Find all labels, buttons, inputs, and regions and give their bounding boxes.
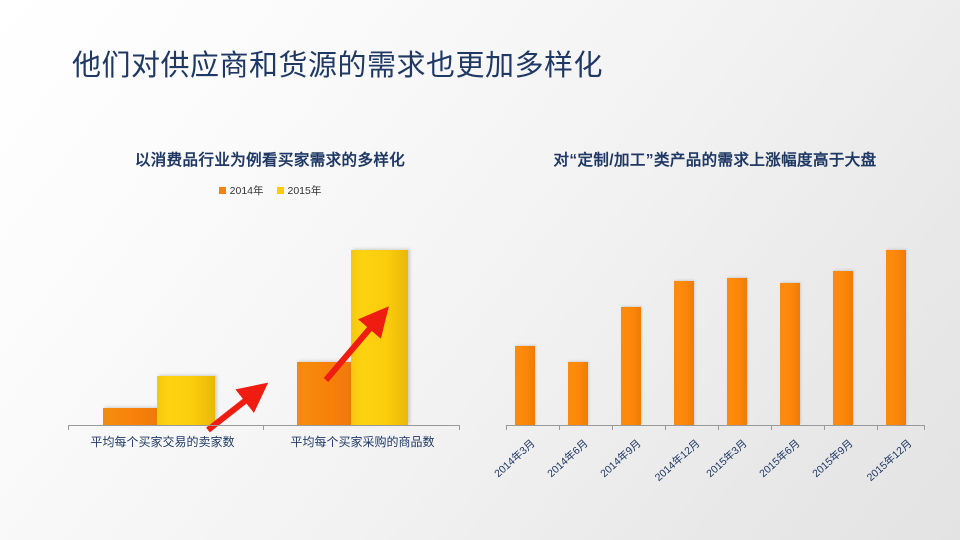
page-title: 他们对供应商和货源的需求也更加多样化: [72, 42, 892, 84]
left-chart-title: 以消费品行业为例看买家需求的多样化: [60, 150, 480, 172]
legend-label-2014: 2014年: [230, 183, 264, 198]
axis-tick: [459, 425, 460, 430]
rbar-2014-12: [674, 281, 694, 425]
rbar-2015-06: [780, 283, 800, 425]
right-chart-panel: 对“定制/加工”类产品的需求上涨幅度高于大盘: [490, 150, 940, 172]
axis-tick: [824, 425, 825, 430]
axis-tick: [559, 425, 560, 430]
right-chart-title: 对“定制/加工”类产品的需求上涨幅度高于大盘: [490, 150, 940, 172]
right-chart-category-label-2: 2014年9月: [597, 436, 644, 481]
left-chart-category-label-0: 平均每个买家交易的卖家数: [60, 433, 265, 450]
right-chart-category-label-0: 2014年3月: [491, 436, 538, 481]
legend-item-2015: 2015年: [277, 183, 322, 198]
axis-tick: [718, 425, 719, 430]
legend-swatch-2015: [277, 187, 284, 194]
axis-tick: [924, 425, 925, 430]
right-chart-category-label-4: 2015年3月: [703, 436, 750, 481]
right-chart-category-label-1: 2014年6月: [544, 436, 591, 481]
rbar-2015-12: [886, 250, 906, 425]
left-chart-panel: 以消费品行业为例看买家需求的多样化 2014年 2015年: [60, 150, 480, 198]
legend-label-2015: 2015年: [288, 183, 322, 198]
right-chart-category-label-6: 2015年9月: [809, 436, 856, 481]
axis-tick: [506, 425, 507, 430]
axis-tick: [665, 425, 666, 430]
rbar-2015-03: [727, 278, 747, 425]
left-chart-axis: [68, 425, 460, 426]
right-chart-category-label-5: 2015年6月: [756, 436, 803, 481]
axis-tick: [877, 425, 878, 430]
right-chart-axis: [506, 425, 925, 426]
legend-swatch-2014: [219, 187, 226, 194]
right-chart-plot: 2014年3月 2014年6月 2014年9月 2014年12月 2015年3月…: [490, 230, 940, 530]
bar-2014-products: [297, 362, 351, 425]
bar-2015-products: [351, 250, 408, 425]
trend-arrow-left-group-icon: [60, 230, 480, 430]
rbar-2014-03: [515, 346, 535, 425]
left-chart-category-label-1: 平均每个买家采购的商品数: [260, 433, 465, 450]
bar-2015-sellers: [157, 376, 215, 425]
left-chart-legend: 2014年 2015年: [60, 183, 480, 198]
slide-canvas: 他们对供应商和货源的需求也更加多样化 以消费品行业为例看买家需求的多样化 201…: [0, 0, 960, 540]
rbar-2015-09: [833, 271, 853, 425]
legend-item-2014: 2014年: [219, 183, 264, 198]
bar-2014-sellers: [103, 408, 157, 425]
axis-tick: [68, 425, 69, 430]
left-chart-plot: 平均每个买家交易的卖家数 平均每个买家采购的商品数: [60, 230, 480, 520]
rbar-2014-09: [621, 307, 641, 425]
rbar-2014-06: [568, 362, 588, 425]
right-chart-category-label-7: 2015年12月: [863, 436, 915, 485]
right-chart-category-label-3: 2014年12月: [651, 436, 703, 485]
axis-tick: [263, 425, 264, 430]
axis-tick: [612, 425, 613, 430]
axis-tick: [771, 425, 772, 430]
